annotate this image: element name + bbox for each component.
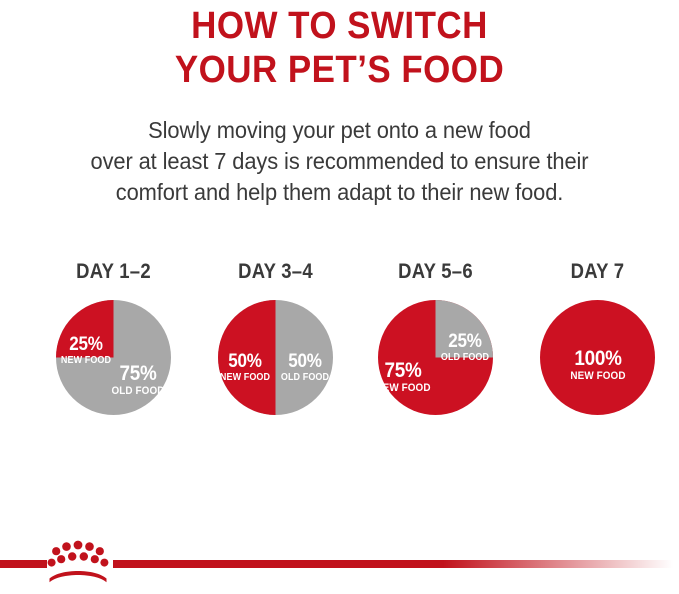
pie-svg-day-1-2	[56, 300, 171, 415]
intro-line-1: Slowly moving your pet onto a new food	[17, 115, 662, 146]
day-label-7: DAY 7	[525, 260, 670, 284]
day-label-3-4: DAY 3–4	[203, 260, 348, 284]
pie-svg-day-7	[540, 300, 655, 415]
intro-line-3: comfort and help them adapt to their new…	[17, 177, 662, 208]
pie-chart-day-1-2: DAY 1–2 25% NEW FOOD 75% OLD FOOD	[31, 260, 196, 440]
intro-line-2: over at least 7 days is recommended to e…	[17, 146, 662, 177]
pie-svg-day-5-6	[378, 300, 493, 415]
pie-slice-old-food	[436, 300, 494, 358]
pie-chart-day-7: DAY 7 100% NEW FOOD	[515, 260, 679, 440]
footer	[0, 538, 679, 594]
pie-slice-new-food	[56, 300, 114, 358]
pie-chart-day-3-4: DAY 3–4 50% NEW FOOD 50% OLD FOOD	[193, 260, 358, 440]
pie-slice-new-food	[540, 300, 655, 415]
footer-bar-left	[0, 560, 47, 568]
day-label-1-2: DAY 1–2	[41, 260, 186, 284]
page-title-line-1: HOW TO SWITCH	[27, 4, 652, 48]
intro-paragraph: Slowly moving your pet onto a new food o…	[0, 115, 679, 208]
day-label-5-6: DAY 5–6	[363, 260, 508, 284]
page-title: HOW TO SWITCH YOUR PET’S FOOD	[0, 4, 679, 92]
page-title-line-2: YOUR PET’S FOOD	[27, 48, 652, 92]
pie-chart-day-5-6: DAY 5–6 75% NEW FOOD 25% OLD FOOD	[353, 260, 518, 440]
pie-svg-day-3-4	[218, 300, 333, 415]
royal-canin-crown-logo	[44, 538, 112, 584]
footer-bar-right	[113, 560, 679, 568]
pie-chart-row: DAY 1–2 25% NEW FOOD 75% OLD FOOD DAY 3–…	[0, 260, 679, 440]
pie-slice-new-food	[218, 300, 276, 415]
